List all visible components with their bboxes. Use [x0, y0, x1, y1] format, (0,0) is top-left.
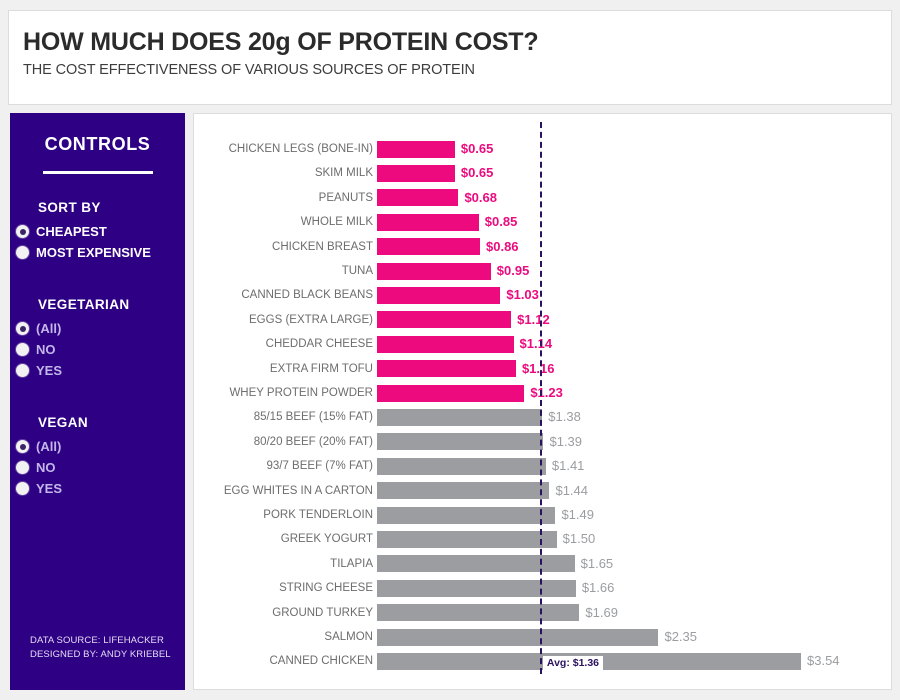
bar-row[interactable]: TUNA$0.95	[194, 259, 891, 283]
control-heading: VEGAN	[38, 415, 185, 430]
bar-row[interactable]: CHICKEN LEGS (BONE-IN)$0.65	[194, 137, 891, 161]
bar-category-label: 85/15 BEEF (15% FAT)	[254, 405, 373, 429]
control-group-vegan: VEGAN(All)NOYES	[38, 415, 185, 499]
bar[interactable]	[377, 263, 491, 280]
sidebar-footer: DATA SOURCE: LIFEHACKER DESIGNED BY: AND…	[30, 634, 171, 662]
bar[interactable]	[377, 214, 479, 231]
bar-value-label: $1.23	[530, 381, 563, 405]
bar-row[interactable]: GREEK YOGURT$1.50	[194, 527, 891, 551]
bar[interactable]	[377, 507, 555, 524]
bar[interactable]	[377, 385, 524, 402]
bar-row[interactable]: SALMON$2.35	[194, 625, 891, 649]
chart-panel: CHICKEN LEGS (BONE-IN)$0.65SKIM MILK$0.6…	[193, 113, 892, 690]
radio-unselected-icon[interactable]	[16, 343, 29, 356]
bar-row[interactable]: CANNED BLACK BEANS$1.03	[194, 283, 891, 307]
bar[interactable]	[377, 531, 557, 548]
bar-row[interactable]: EGG WHITES IN A CARTON$1.44	[194, 479, 891, 503]
bar[interactable]	[377, 165, 455, 182]
bar-category-label: CHICKEN LEGS (BONE-IN)	[229, 137, 373, 161]
bar-value-label: $0.95	[497, 259, 530, 283]
bar[interactable]	[377, 238, 480, 255]
bar-value-label: $1.50	[563, 527, 596, 551]
bar-category-label: TILAPIA	[330, 552, 373, 576]
radio-option-no[interactable]: NO	[16, 339, 185, 360]
radio-option-yes[interactable]: YES	[16, 360, 185, 381]
bar[interactable]	[377, 409, 542, 426]
radio-label: NO	[36, 460, 56, 475]
bar-category-label: CHEDDAR CHEESE	[266, 332, 373, 356]
radio-selected-icon[interactable]	[16, 225, 29, 238]
radio-option-no[interactable]: NO	[16, 457, 185, 478]
bar[interactable]	[377, 580, 576, 597]
controls-sidebar: CONTROLS SORT BYCHEAPESTMOST EXPENSIVEVE…	[10, 113, 185, 690]
radio-option-yes[interactable]: YES	[16, 478, 185, 499]
bar-value-label: $1.14	[520, 332, 553, 356]
bar-value-label: $1.66	[582, 576, 615, 600]
bar-value-label: $1.12	[517, 308, 550, 332]
bar[interactable]	[377, 141, 455, 158]
radio-unselected-icon[interactable]	[16, 482, 29, 495]
bar-row[interactable]: TILAPIA$1.65	[194, 552, 891, 576]
bar-row[interactable]: WHOLE MILK$0.85	[194, 210, 891, 234]
bar-row[interactable]: PORK TENDERLOIN$1.49	[194, 503, 891, 527]
radio-option-all[interactable]: (All)	[16, 436, 185, 457]
bar-value-label: $0.86	[486, 235, 519, 259]
bar-row[interactable]: EGGS (EXTRA LARGE)$1.12	[194, 308, 891, 332]
bar-value-label: $0.85	[485, 210, 518, 234]
average-reference-label: Avg: $1.36	[543, 656, 603, 671]
bar-row[interactable]: 93/7 BEEF (7% FAT)$1.41	[194, 454, 891, 478]
control-heading: VEGETARIAN	[38, 297, 185, 312]
bar-row[interactable]: PEANUTS$0.68	[194, 186, 891, 210]
radio-label: MOST EXPENSIVE	[36, 245, 151, 260]
bar-value-label: $1.44	[555, 479, 588, 503]
bar-row[interactable]: CHEDDAR CHEESE$1.14	[194, 332, 891, 356]
bar-value-label: $1.03	[506, 283, 539, 307]
sidebar-divider	[43, 171, 153, 174]
bar-category-label: EGGS (EXTRA LARGE)	[249, 308, 373, 332]
bar[interactable]	[377, 555, 575, 572]
bar-value-label: $1.41	[552, 454, 585, 478]
bar-value-label: $1.39	[549, 430, 582, 454]
radio-option-all[interactable]: (All)	[16, 318, 185, 339]
bar-category-label: CANNED BLACK BEANS	[241, 283, 373, 307]
bar[interactable]	[377, 360, 516, 377]
bar[interactable]	[377, 287, 500, 304]
bar-value-label: $0.65	[461, 161, 494, 185]
radio-label: (All)	[36, 439, 61, 454]
radio-label: CHEAPEST	[36, 224, 107, 239]
bar-category-label: SKIM MILK	[315, 161, 373, 185]
radio-selected-icon[interactable]	[16, 322, 29, 335]
radio-option-cheapest[interactable]: CHEAPEST	[16, 221, 185, 242]
bar-value-label: $0.65	[461, 137, 494, 161]
radio-label: YES	[36, 363, 62, 378]
bar-value-label: $2.35	[664, 625, 697, 649]
bar-row[interactable]: EXTRA FIRM TOFU$1.16	[194, 357, 891, 381]
bar[interactable]	[377, 336, 514, 353]
radio-selected-icon[interactable]	[16, 440, 29, 453]
radio-label: YES	[36, 481, 62, 496]
bar-chart: CHICKEN LEGS (BONE-IN)$0.65SKIM MILK$0.6…	[194, 114, 891, 689]
data-source-text: DATA SOURCE: LIFEHACKER	[30, 634, 171, 648]
page-title: HOW MUCH DOES 20g OF PROTEIN COST?	[23, 29, 891, 55]
dashboard-root: HOW MUCH DOES 20g OF PROTEIN COST? THE C…	[0, 0, 900, 700]
bar-category-label: CHICKEN BREAST	[272, 235, 373, 259]
bar[interactable]	[377, 458, 546, 475]
designed-by-text: DESIGNED BY: ANDY KRIEBEL	[30, 648, 171, 662]
bar-category-label: PORK TENDERLOIN	[263, 503, 373, 527]
bar-value-label: $1.49	[561, 503, 594, 527]
control-group-sort-by: SORT BYCHEAPESTMOST EXPENSIVE	[38, 200, 185, 263]
bar-category-label: PEANUTS	[319, 186, 373, 210]
radio-label: (All)	[36, 321, 61, 336]
bar[interactable]	[377, 189, 458, 206]
bar-category-label: EGG WHITES IN A CARTON	[224, 479, 373, 503]
radio-option-most-expensive[interactable]: MOST EXPENSIVE	[16, 242, 185, 263]
radio-unselected-icon[interactable]	[16, 461, 29, 474]
bar[interactable]	[377, 604, 579, 621]
page-subtitle: THE COST EFFECTIVENESS OF VARIOUS SOURCE…	[23, 62, 891, 78]
bar-category-label: WHEY PROTEIN POWDER	[229, 381, 373, 405]
bar-value-label: $3.54	[807, 649, 840, 673]
bar-category-label: 93/7 BEEF (7% FAT)	[266, 454, 373, 478]
radio-label: NO	[36, 342, 56, 357]
control-heading: SORT BY	[38, 200, 185, 215]
bar[interactable]	[377, 629, 658, 646]
bar-value-label: $1.69	[585, 601, 618, 625]
bar-value-label: $0.68	[464, 186, 497, 210]
bar-row[interactable]: SKIM MILK$0.65	[194, 161, 891, 185]
bar-value-label: $1.38	[548, 405, 581, 429]
bar-category-label: GROUND TURKEY	[272, 601, 373, 625]
bar[interactable]	[377, 482, 549, 499]
header-panel: HOW MUCH DOES 20g OF PROTEIN COST? THE C…	[8, 10, 892, 105]
bar-row[interactable]: CHICKEN BREAST$0.86	[194, 235, 891, 259]
bar-row[interactable]: GROUND TURKEY$1.69	[194, 601, 891, 625]
bar-category-label: EXTRA FIRM TOFU	[270, 357, 373, 381]
bar-category-label: CANNED CHICKEN	[269, 649, 373, 673]
bar-category-label: SALMON	[324, 625, 373, 649]
bar[interactable]	[377, 311, 511, 328]
bar-value-label: $1.16	[522, 357, 555, 381]
bar-category-label: GREEK YOGURT	[281, 527, 373, 551]
control-group-vegetarian: VEGETARIAN(All)NOYES	[38, 297, 185, 381]
average-reference-line	[540, 122, 542, 674]
radio-unselected-icon[interactable]	[16, 246, 29, 259]
bar-row[interactable]: 85/15 BEEF (15% FAT)$1.38	[194, 405, 891, 429]
bar-row[interactable]: 80/20 BEEF (20% FAT)$1.39	[194, 430, 891, 454]
bar-category-label: TUNA	[342, 259, 373, 283]
radio-unselected-icon[interactable]	[16, 364, 29, 377]
bar-category-label: 80/20 BEEF (20% FAT)	[254, 430, 373, 454]
controls-title: CONTROLS	[10, 134, 185, 155]
bar-row[interactable]: STRING CHEESE$1.66	[194, 576, 891, 600]
control-groups: SORT BYCHEAPESTMOST EXPENSIVEVEGETARIAN(…	[10, 200, 185, 499]
bar-category-label: WHOLE MILK	[301, 210, 373, 234]
bar[interactable]	[377, 433, 543, 450]
bar-value-label: $1.65	[581, 552, 614, 576]
bar-row[interactable]: WHEY PROTEIN POWDER$1.23	[194, 381, 891, 405]
bar-category-label: STRING CHEESE	[279, 576, 373, 600]
